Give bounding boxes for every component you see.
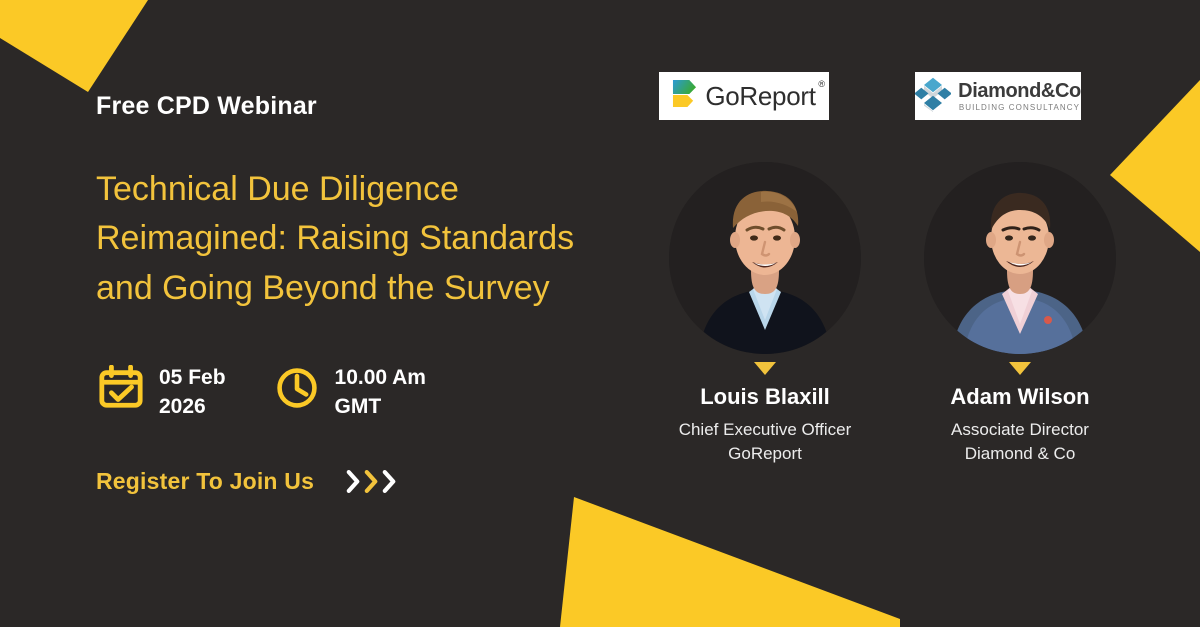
calendar-icon <box>96 362 146 414</box>
event-date-value: 05 Feb 2026 <box>159 362 226 422</box>
goreport-logo: GoReport® <box>659 72 829 120</box>
event-time: 10.00 Am GMT <box>272 362 426 422</box>
speaker-card-louis-blaxill: Louis Blaxill Chief Executive Officer Go… <box>640 162 890 466</box>
clock-icon <box>272 362 322 414</box>
four-diamond-mark <box>915 76 951 117</box>
kicker-label: Free CPD Webinar <box>96 92 616 121</box>
speaker-portrait <box>669 162 861 354</box>
goreport-arrow-mark <box>672 79 697 113</box>
speaker-name: Adam Wilson <box>895 384 1145 410</box>
speaker-name: Louis Blaxill <box>640 384 890 410</box>
register-label: Register To Join Us <box>96 468 314 495</box>
diamond-wordmark: Diamond&Co <box>958 81 1081 101</box>
registered-mark: ® <box>818 79 824 89</box>
register-cta[interactable]: Register To Join Us <box>96 468 397 495</box>
triple-chevron-right-icon <box>346 469 397 494</box>
diamond-and-co-logo: Diamond&Co BUILDING CONSULTANCY <box>915 72 1081 120</box>
triangle-down-icon <box>754 362 776 375</box>
speaker-role: Chief Executive Officer GoReport <box>640 418 890 466</box>
event-meta-row: 05 Feb 2026 10.00 Am GMT <box>96 362 426 422</box>
goreport-wordmark: GoReport® <box>705 81 815 112</box>
page-title: Technical Due Diligence Reimagined: Rais… <box>96 165 596 313</box>
diamond-subtitle: BUILDING CONSULTANCY <box>959 104 1080 112</box>
speaker-card-adam-wilson: Adam Wilson Associate Director Diamond &… <box>895 162 1145 466</box>
event-date: 05 Feb 2026 <box>96 362 226 422</box>
speaker-portrait <box>924 162 1116 354</box>
event-time-value: 10.00 Am GMT <box>335 362 426 422</box>
triangle-down-icon <box>1009 362 1031 375</box>
left-content-column: Free CPD Webinar Technical Due Diligence… <box>96 92 616 313</box>
speaker-role: Associate Director Diamond & Co <box>895 418 1145 466</box>
webinar-promo-canvas: Free CPD Webinar Technical Due Diligence… <box>0 0 1200 627</box>
bottom-yellow-wedge <box>560 497 900 627</box>
